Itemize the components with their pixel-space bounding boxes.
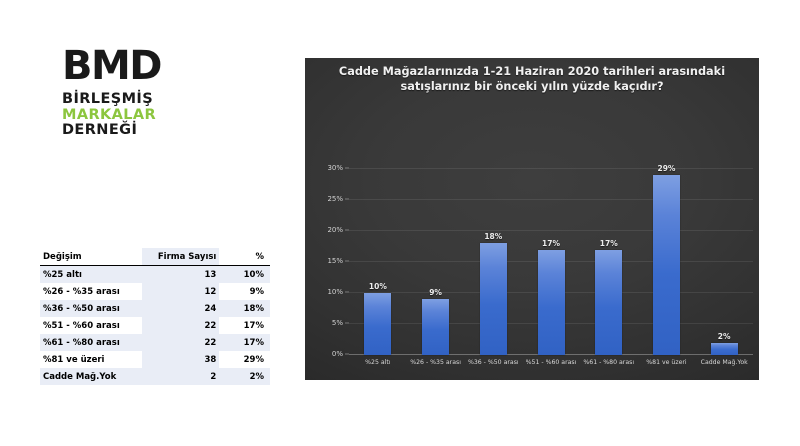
table-cell-count: 38 (142, 351, 219, 368)
summary-table-container: Değişim Firma Sayısı % %25 altı1310%%26 … (40, 248, 270, 385)
chart-y-tick-label: 0% (332, 350, 343, 358)
chart-x-axis-label: Cadde Mağ.Yok (695, 358, 753, 372)
table-header: Değişim Firma Sayısı % (40, 248, 270, 266)
table-header-yuzde: % (219, 248, 270, 266)
logo-line-birlesmis: BİRLEŞMİŞ (62, 92, 262, 108)
logo-line-markalar: MARKALAR (62, 108, 262, 124)
table-row: %25 altı1310% (40, 266, 270, 284)
chart-bar-slot: 29% (638, 169, 696, 355)
table-cell-count: 12 (142, 283, 219, 300)
chart-y-tick-label: 30% (327, 164, 343, 172)
chart-bar-value-label: 17% (600, 239, 618, 248)
chart-x-axis-label: %61 - %80 arası (580, 358, 638, 372)
table-cell-pct: 29% (219, 351, 270, 368)
chart-bar-value-label: 29% (657, 164, 675, 173)
chart-y-tick-label: 5% (332, 319, 343, 327)
chart-y-tick-label: 25% (327, 195, 343, 203)
table-cell-pct: 2% (219, 368, 270, 385)
table-cell-label: %51 - %60 arası (40, 317, 142, 334)
chart-bar-slot: 10% (349, 169, 407, 355)
table-cell-pct: 17% (219, 317, 270, 334)
table-row: Cadde Mağ.Yok22% (40, 368, 270, 385)
table-cell-label: %81 ve üzeri (40, 351, 142, 368)
chart-bar[interactable]: 17% (538, 250, 565, 355)
table-cell-pct: 10% (219, 266, 270, 284)
logo-wordmark: BMD (62, 46, 262, 86)
table-row: %51 - %60 arası2217% (40, 317, 270, 334)
table-cell-label: %36 - %50 arası (40, 300, 142, 317)
chart-x-axis-label: %26 - %35 arası (407, 358, 465, 372)
chart-plot-area: 0%5%10%15%20%25%30% 10%9%18%17%17%29%2% (349, 169, 753, 355)
chart-bar-value-label: 18% (484, 232, 502, 241)
chart-bar[interactable]: 2% (711, 343, 738, 355)
table-row: %81 ve üzeri3829% (40, 351, 270, 368)
table-header-degisim: Değişim (40, 248, 142, 266)
table-cell-count: 22 (142, 334, 219, 351)
chart-bar-slot: 17% (522, 169, 580, 355)
chart-bar[interactable]: 10% (364, 293, 391, 355)
chart-x-axis-labels: %25 altı%26 - %35 arası%36 - %50 arası%5… (349, 358, 753, 372)
table-cell-label: %25 altı (40, 266, 142, 284)
chart-y-tick-label: 20% (327, 226, 343, 234)
table-cell-count: 24 (142, 300, 219, 317)
chart-bar-value-label: 2% (718, 332, 731, 341)
table-header-row: Değişim Firma Sayısı % (40, 248, 270, 266)
chart-x-axis-label: %36 - %50 arası (464, 358, 522, 372)
chart-bar[interactable]: 9% (422, 299, 449, 355)
table-cell-count: 2 (142, 368, 219, 385)
chart-bar-value-label: 17% (542, 239, 560, 248)
bmd-logo: BMD BİRLEŞMİŞ MARKALAR DERNEĞİ (62, 46, 262, 139)
summary-table: Değişim Firma Sayısı % %25 altı1310%%26 … (40, 248, 270, 385)
chart-bar-slot: 17% (580, 169, 638, 355)
bar-chart-panel: Cadde Mağazlarınızda 1-21 Haziran 2020 t… (305, 58, 759, 380)
table-cell-label: Cadde Mağ.Yok (40, 368, 142, 385)
chart-bar-slot: 9% (407, 169, 465, 355)
chart-x-axis-label: %51 - %60 arası (522, 358, 580, 372)
chart-x-axis-label: %81 ve üzeri (638, 358, 696, 372)
chart-x-axis-label: %25 altı (349, 358, 407, 372)
table-row: %26 - %35 arası129% (40, 283, 270, 300)
chart-bars: 10%9%18%17%17%29%2% (349, 169, 753, 355)
chart-bar-slot: 2% (695, 169, 753, 355)
chart-bar[interactable]: 29% (653, 175, 680, 355)
table-cell-count: 13 (142, 266, 219, 284)
table-row: %36 - %50 arası2418% (40, 300, 270, 317)
logo-line-dernegi: DERNEĞİ (62, 123, 262, 139)
chart-bar-value-label: 10% (369, 282, 387, 291)
table-cell-label: %26 - %35 arası (40, 283, 142, 300)
chart-title: Cadde Mağazlarınızda 1-21 Haziran 2020 t… (327, 64, 737, 94)
table-header-firma-sayisi: Firma Sayısı (142, 248, 219, 266)
table-cell-label: %61 - %80 arası (40, 334, 142, 351)
table-cell-count: 22 (142, 317, 219, 334)
table-cell-pct: 9% (219, 283, 270, 300)
table-cell-pct: 18% (219, 300, 270, 317)
table-body: %25 altı1310%%26 - %35 arası129%%36 - %5… (40, 266, 270, 386)
chart-bar-slot: 18% (464, 169, 522, 355)
chart-bar[interactable]: 17% (595, 250, 622, 355)
table-row: %61 - %80 arası2217% (40, 334, 270, 351)
table-cell-pct: 17% (219, 334, 270, 351)
chart-y-tick-label: 15% (327, 257, 343, 265)
chart-bar[interactable]: 18% (480, 243, 507, 355)
chart-y-tick-label: 10% (327, 288, 343, 296)
chart-bar-value-label: 9% (429, 288, 442, 297)
